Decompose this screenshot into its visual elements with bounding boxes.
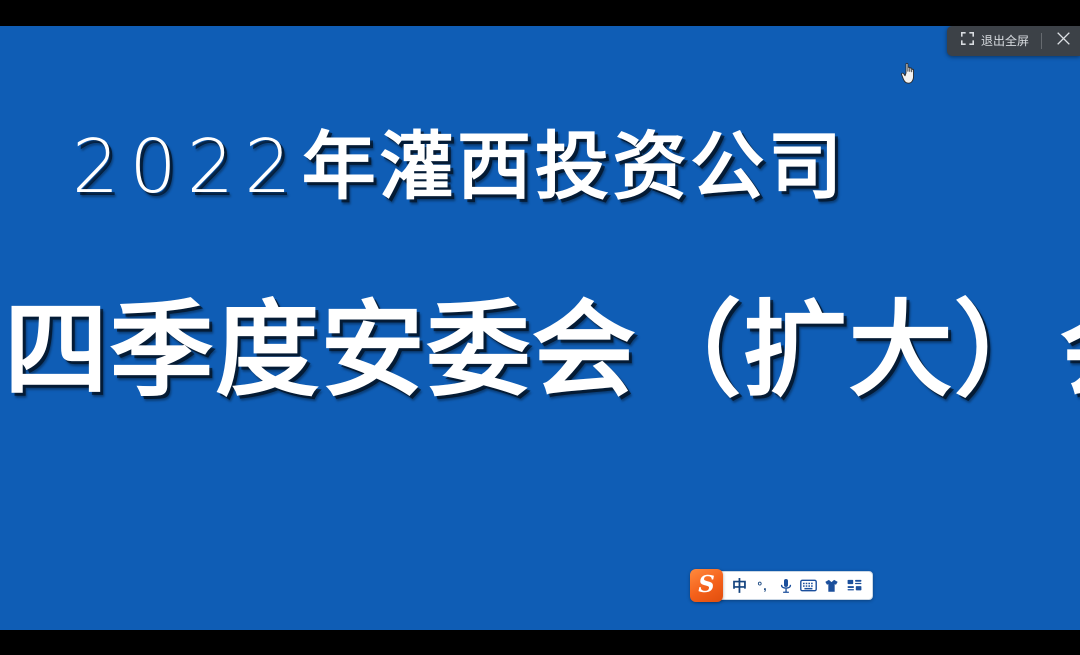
fullscreen-video-player: 2022年灌西投资公司 四季度安委会（扩大）会议 [0,0,1080,655]
slide-title-line-1-text: 年灌西投资公司 [302,124,846,210]
ime-toolbox-icon[interactable] [843,575,866,596]
sogou-logo-icon[interactable]: S [690,569,723,602]
exit-fullscreen-button[interactable]: 退出全屏 [959,29,1037,53]
control-separator [1041,33,1042,49]
presentation-slide: 2022年灌西投资公司 四季度安委会（扩大）会议 [0,26,1080,630]
exit-fullscreen-label: 退出全屏 [981,35,1029,47]
exit-fullscreen-icon [961,32,974,50]
slide-title-line-1: 2022年灌西投资公司 [72,130,846,204]
sogou-logo-glyph: S [698,573,715,596]
ime-skin-icon[interactable] [820,575,843,596]
close-button[interactable] [1050,29,1076,53]
sogou-ime-toolbar[interactable]: S 中 °, [697,571,873,600]
slide-title-line-2: 四季度安委会（扩大）会议 [4,298,1080,402]
player-control-bar: 退出全屏 [947,26,1080,56]
ime-punctuation-toggle[interactable]: °, [751,575,774,596]
ime-mode-chinese[interactable]: 中 [728,575,751,596]
close-icon [1056,31,1071,51]
ime-soft-keyboard-icon[interactable] [797,575,820,596]
slide-title-year: 2022 [72,124,302,210]
ime-voice-input-icon[interactable] [774,575,797,596]
